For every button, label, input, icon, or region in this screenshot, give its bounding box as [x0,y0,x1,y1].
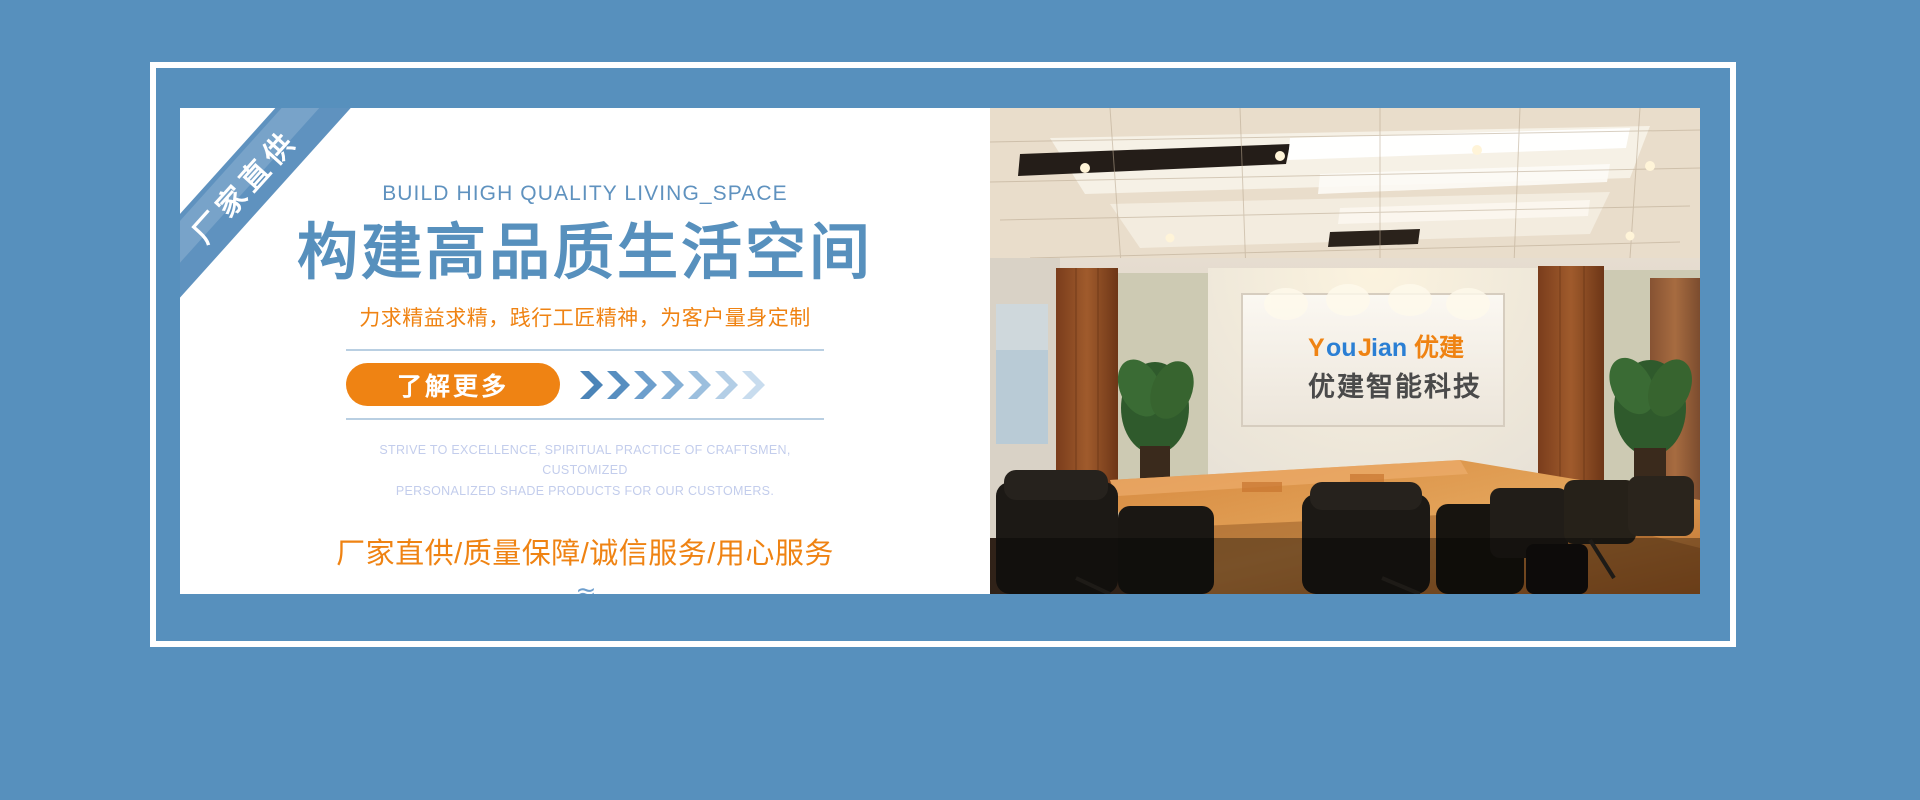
wave-icon: ≋ [576,583,595,594]
screen-logo-sub: 优建智能科技 [1308,371,1482,402]
learn-more-button[interactable]: 了解更多 [346,363,560,406]
screen-logo-ou: ou [1326,334,1357,362]
chevron-right-icon-2 [605,369,631,401]
eyebrow-text: BUILD HIGH QUALITY LIVING_SPACE [382,182,788,206]
chevron-arrow-group [578,369,766,401]
slogan-text: 厂家直供/质量保障/诚信服务/用心服务 [336,530,834,572]
fineprint-line-1: STRIVE TO EXCELLENCE, SPIRITUAL PRACTICE… [335,440,835,481]
cta-band: 了解更多 [346,349,824,420]
chevron-right-icon-6 [713,369,739,401]
subheadline-text: 力求精益求精，践行工匠精神，为客户量身定制 [359,302,811,332]
chevron-right-icon-5 [686,369,712,401]
screen-logo-brand-cn: 优建 [1414,334,1464,362]
screen-logo-j: J [1358,334,1372,362]
conference-room-photo: Y ou J ian 优建 优建智能科技 [990,108,1700,594]
screen-logo-y: Y [1308,334,1325,362]
chevron-right-icon-4 [659,369,685,401]
chevron-right-icon-7 [740,369,766,401]
chevron-right-icon-3 [632,369,658,401]
banner-text-column: BUILD HIGH QUALITY LIVING_SPACE 构建高品质生活空… [180,108,990,594]
screen-logo-ian: ian [1371,334,1407,362]
banner-card: 厂家直供 BUILD HIGH QUALITY LIVING_SPACE 构建高… [180,108,1700,594]
chevron-right-icon-1 [578,369,604,401]
page-title: 构建高品质生活空间 [297,220,873,284]
fineprint-line-2: PERSONALIZED SHADE PRODUCTS FOR OUR CUST… [335,481,835,501]
photo-illustration: Y ou J ian 优建 优建智能科技 [990,108,1700,594]
fineprint-block: STRIVE TO EXCELLENCE, SPIRITUAL PRACTICE… [335,440,835,501]
